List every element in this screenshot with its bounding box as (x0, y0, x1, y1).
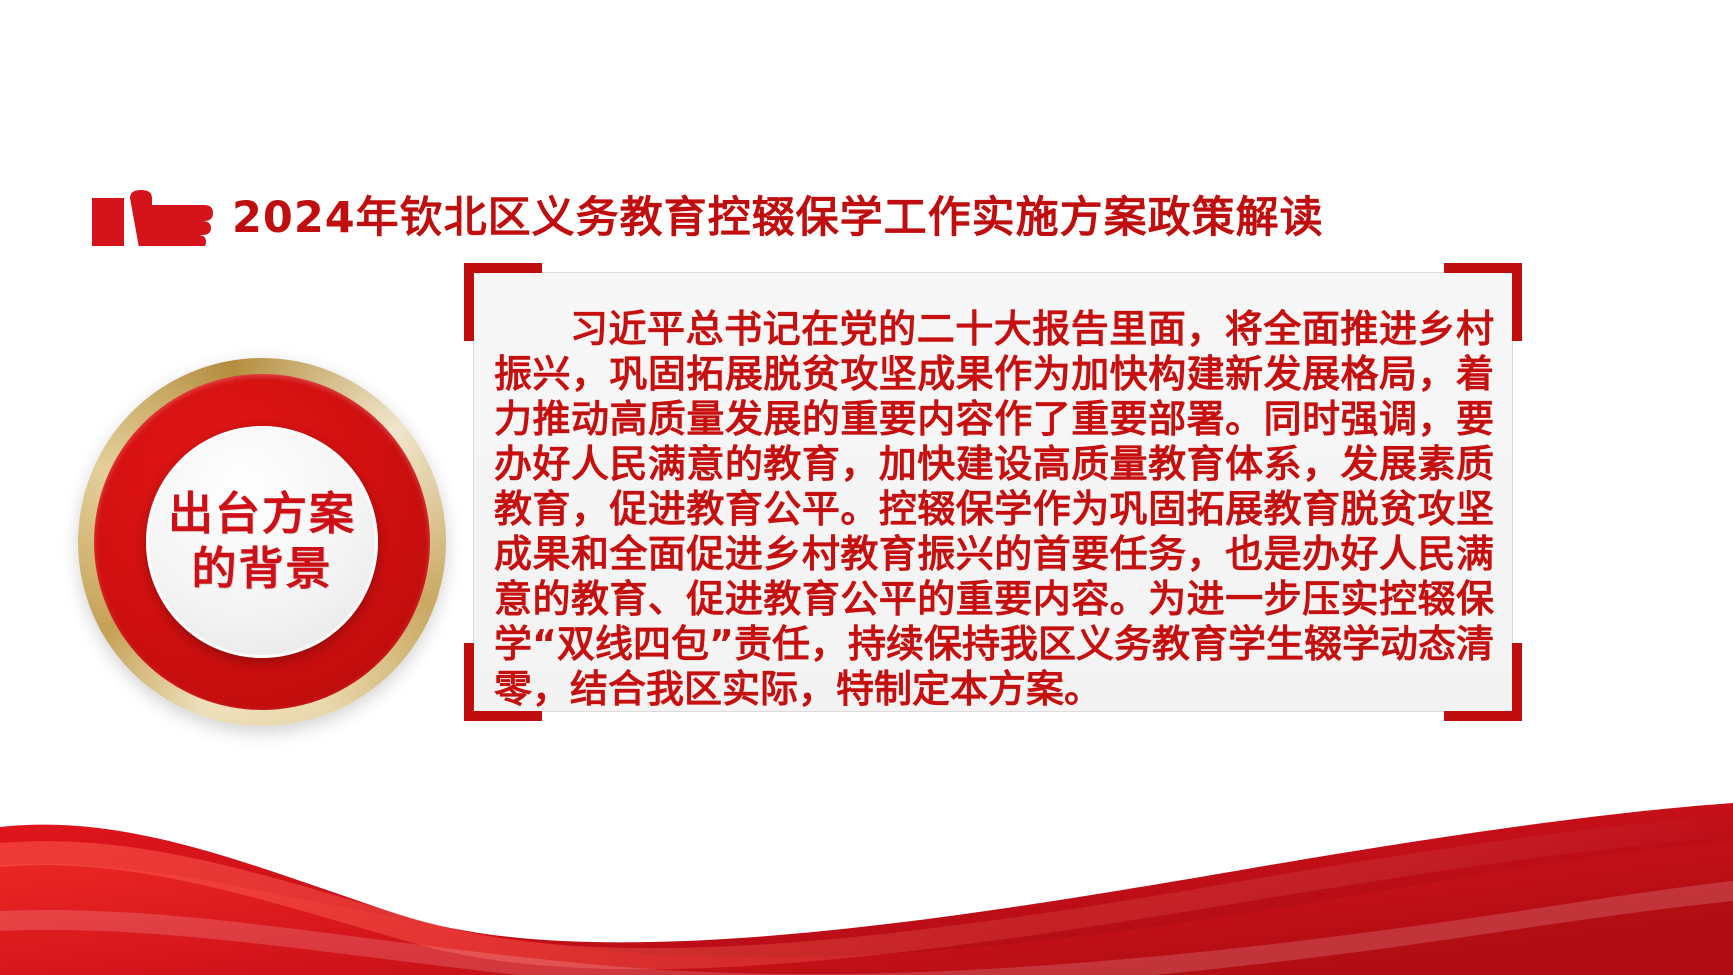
badge-label-line1: 出台方案 (168, 487, 356, 542)
hand-pointing-right-icon (92, 190, 220, 246)
page-title: 2024年钦北区义务教育控辍保学工作实施方案政策解读 (232, 197, 1324, 240)
slide-title-row: 2024年钦北区义务教育控辍保学工作实施方案政策解读 (92, 188, 1324, 248)
body-paragraph: 习近平总书记在党的二十大报告里面，将全面推进乡村振兴，巩固拓展脱贫攻坚成果作为加… (494, 307, 1494, 712)
section-badge: 出台方案 的背景 (78, 358, 446, 726)
badge-inner-disc: 出台方案 的背景 (146, 426, 378, 658)
red-wave-ribbon-decoration (0, 715, 1733, 975)
content-panel: 习近平总书记在党的二十大报告里面，将全面推进乡村振兴，巩固拓展脱贫攻坚成果作为加… (473, 272, 1513, 712)
slide-canvas: 2024年钦北区义务教育控辍保学工作实施方案政策解读 出台方案 的背景 习近平总… (0, 0, 1733, 975)
badge-label-line2: 的背景 (191, 542, 332, 597)
